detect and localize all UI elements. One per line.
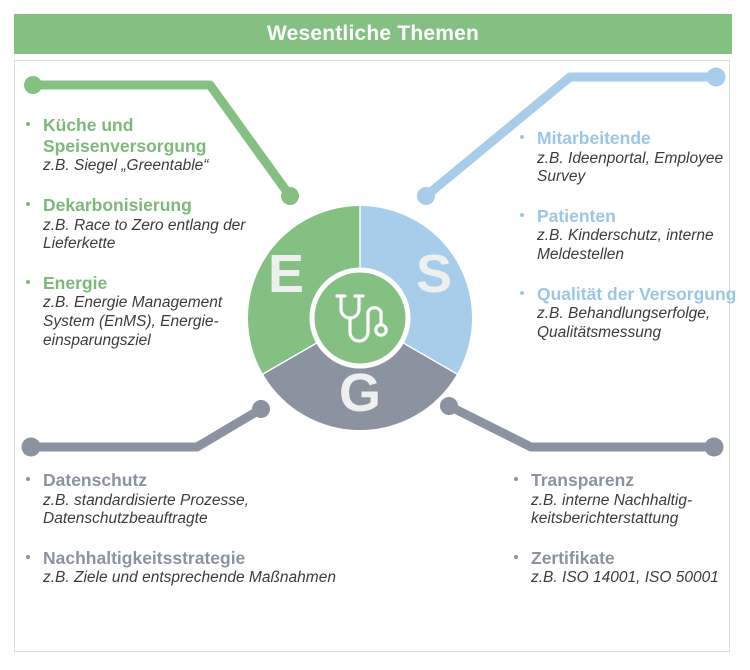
connector-node-dot <box>252 400 270 418</box>
topic-title: Zertifikate <box>531 548 750 569</box>
topic-example: z.B. ISO 14001, ISO 50001 <box>531 569 750 588</box>
topic-title: Energie <box>43 273 272 294</box>
connector-endpoint-dot <box>707 68 726 87</box>
topic-title: Datenschutz <box>43 470 352 491</box>
connector-endpoint-dot <box>705 438 724 457</box>
topic-list-governance-left: Datenschutz z.B. standardisierte Prozess… <box>22 470 352 588</box>
list-item: Energie z.B. Energie Management System (… <box>22 273 272 350</box>
bullet-icon <box>520 213 524 217</box>
pie-letter-e: E <box>268 244 304 304</box>
bullet-icon <box>26 122 30 126</box>
list-item: Patienten z.B. Kinderschutz, interne Mel… <box>516 206 748 265</box>
topic-example: z.B. Siegel „Greentable“ <box>43 157 272 176</box>
bullet-icon <box>520 135 524 139</box>
list-item: Mitarbeitende z.B. Ideenportal, Employee… <box>516 128 748 187</box>
bullet-icon <box>26 477 30 481</box>
bullet-icon <box>514 555 518 559</box>
infographic-root: Wesentliche Themen <box>0 0 750 670</box>
list-item: Datenschutz z.B. standardisierte Prozess… <box>22 470 352 529</box>
topic-title: Dekarbonisierung <box>43 195 272 216</box>
topic-example: z.B. Behandlungserfolge, Qualitätsmessun… <box>537 305 748 342</box>
list-item: Qualität der Versorgung z.B. Behandlungs… <box>516 284 748 343</box>
topic-example: z.B. Kinderschutz, interne Meldestellen <box>537 227 748 264</box>
topic-title: Küche und Speisenversorgung <box>43 115 272 156</box>
topic-example: z.B. Race to Zero entlang der Lieferkett… <box>43 217 272 254</box>
bullet-icon <box>514 477 518 481</box>
topic-title: Mitarbeitende <box>537 128 748 149</box>
connector-endpoint-dot <box>22 438 41 457</box>
topic-title: Nachhaltigkeitsstrategie <box>43 548 352 569</box>
center-hub-circle <box>312 270 408 366</box>
bullet-icon <box>520 291 524 295</box>
connector-endpoint-dot <box>24 76 42 94</box>
list-item: Küche und Speisenversorgung z.B. Siegel … <box>22 115 272 176</box>
connector-node-dot <box>281 187 299 205</box>
list-item: Dekarbonisierung z.B. Race to Zero entla… <box>22 195 272 254</box>
connector-lower-left <box>22 400 271 457</box>
pie-letter-g: G <box>339 363 381 423</box>
topic-title: Patienten <box>537 206 748 227</box>
topic-list-environment: Küche und Speisenversorgung z.B. Siegel … <box>22 115 272 350</box>
connector-node-dot <box>440 397 458 415</box>
topic-list-governance-right: Transparenz z.B. interne Nachhaltig-keit… <box>510 470 750 588</box>
connector-lower-right <box>440 397 724 457</box>
list-item: Zertifikate z.B. ISO 14001, ISO 50001 <box>510 548 750 588</box>
topic-title: Transparenz <box>531 470 750 491</box>
pie-letter-s: S <box>416 244 452 304</box>
connector-node-dot <box>417 187 435 205</box>
list-item: Nachhaltigkeitsstrategie z.B. Ziele und … <box>22 548 352 588</box>
topic-example: z.B. Energie Management System (EnMS), E… <box>43 294 272 350</box>
bullet-icon <box>26 202 30 206</box>
bullet-icon <box>26 555 30 559</box>
topic-example: z.B. Ziele und entsprechende Maßnahmen <box>43 569 352 588</box>
topic-example: z.B. Ideenportal, Employee Survey <box>537 150 748 187</box>
list-item: Transparenz z.B. interne Nachhaltig-keit… <box>510 470 750 529</box>
topic-title: Qualität der Versorgung <box>537 284 748 305</box>
center-hub <box>312 270 408 366</box>
topic-list-social: Mitarbeitende z.B. Ideenportal, Employee… <box>516 128 748 342</box>
bullet-icon <box>26 280 30 284</box>
topic-example: z.B. standardisierte Prozesse, Datenschu… <box>43 492 352 529</box>
topic-example: z.B. interne Nachhaltig-keitsberichterst… <box>531 492 750 529</box>
